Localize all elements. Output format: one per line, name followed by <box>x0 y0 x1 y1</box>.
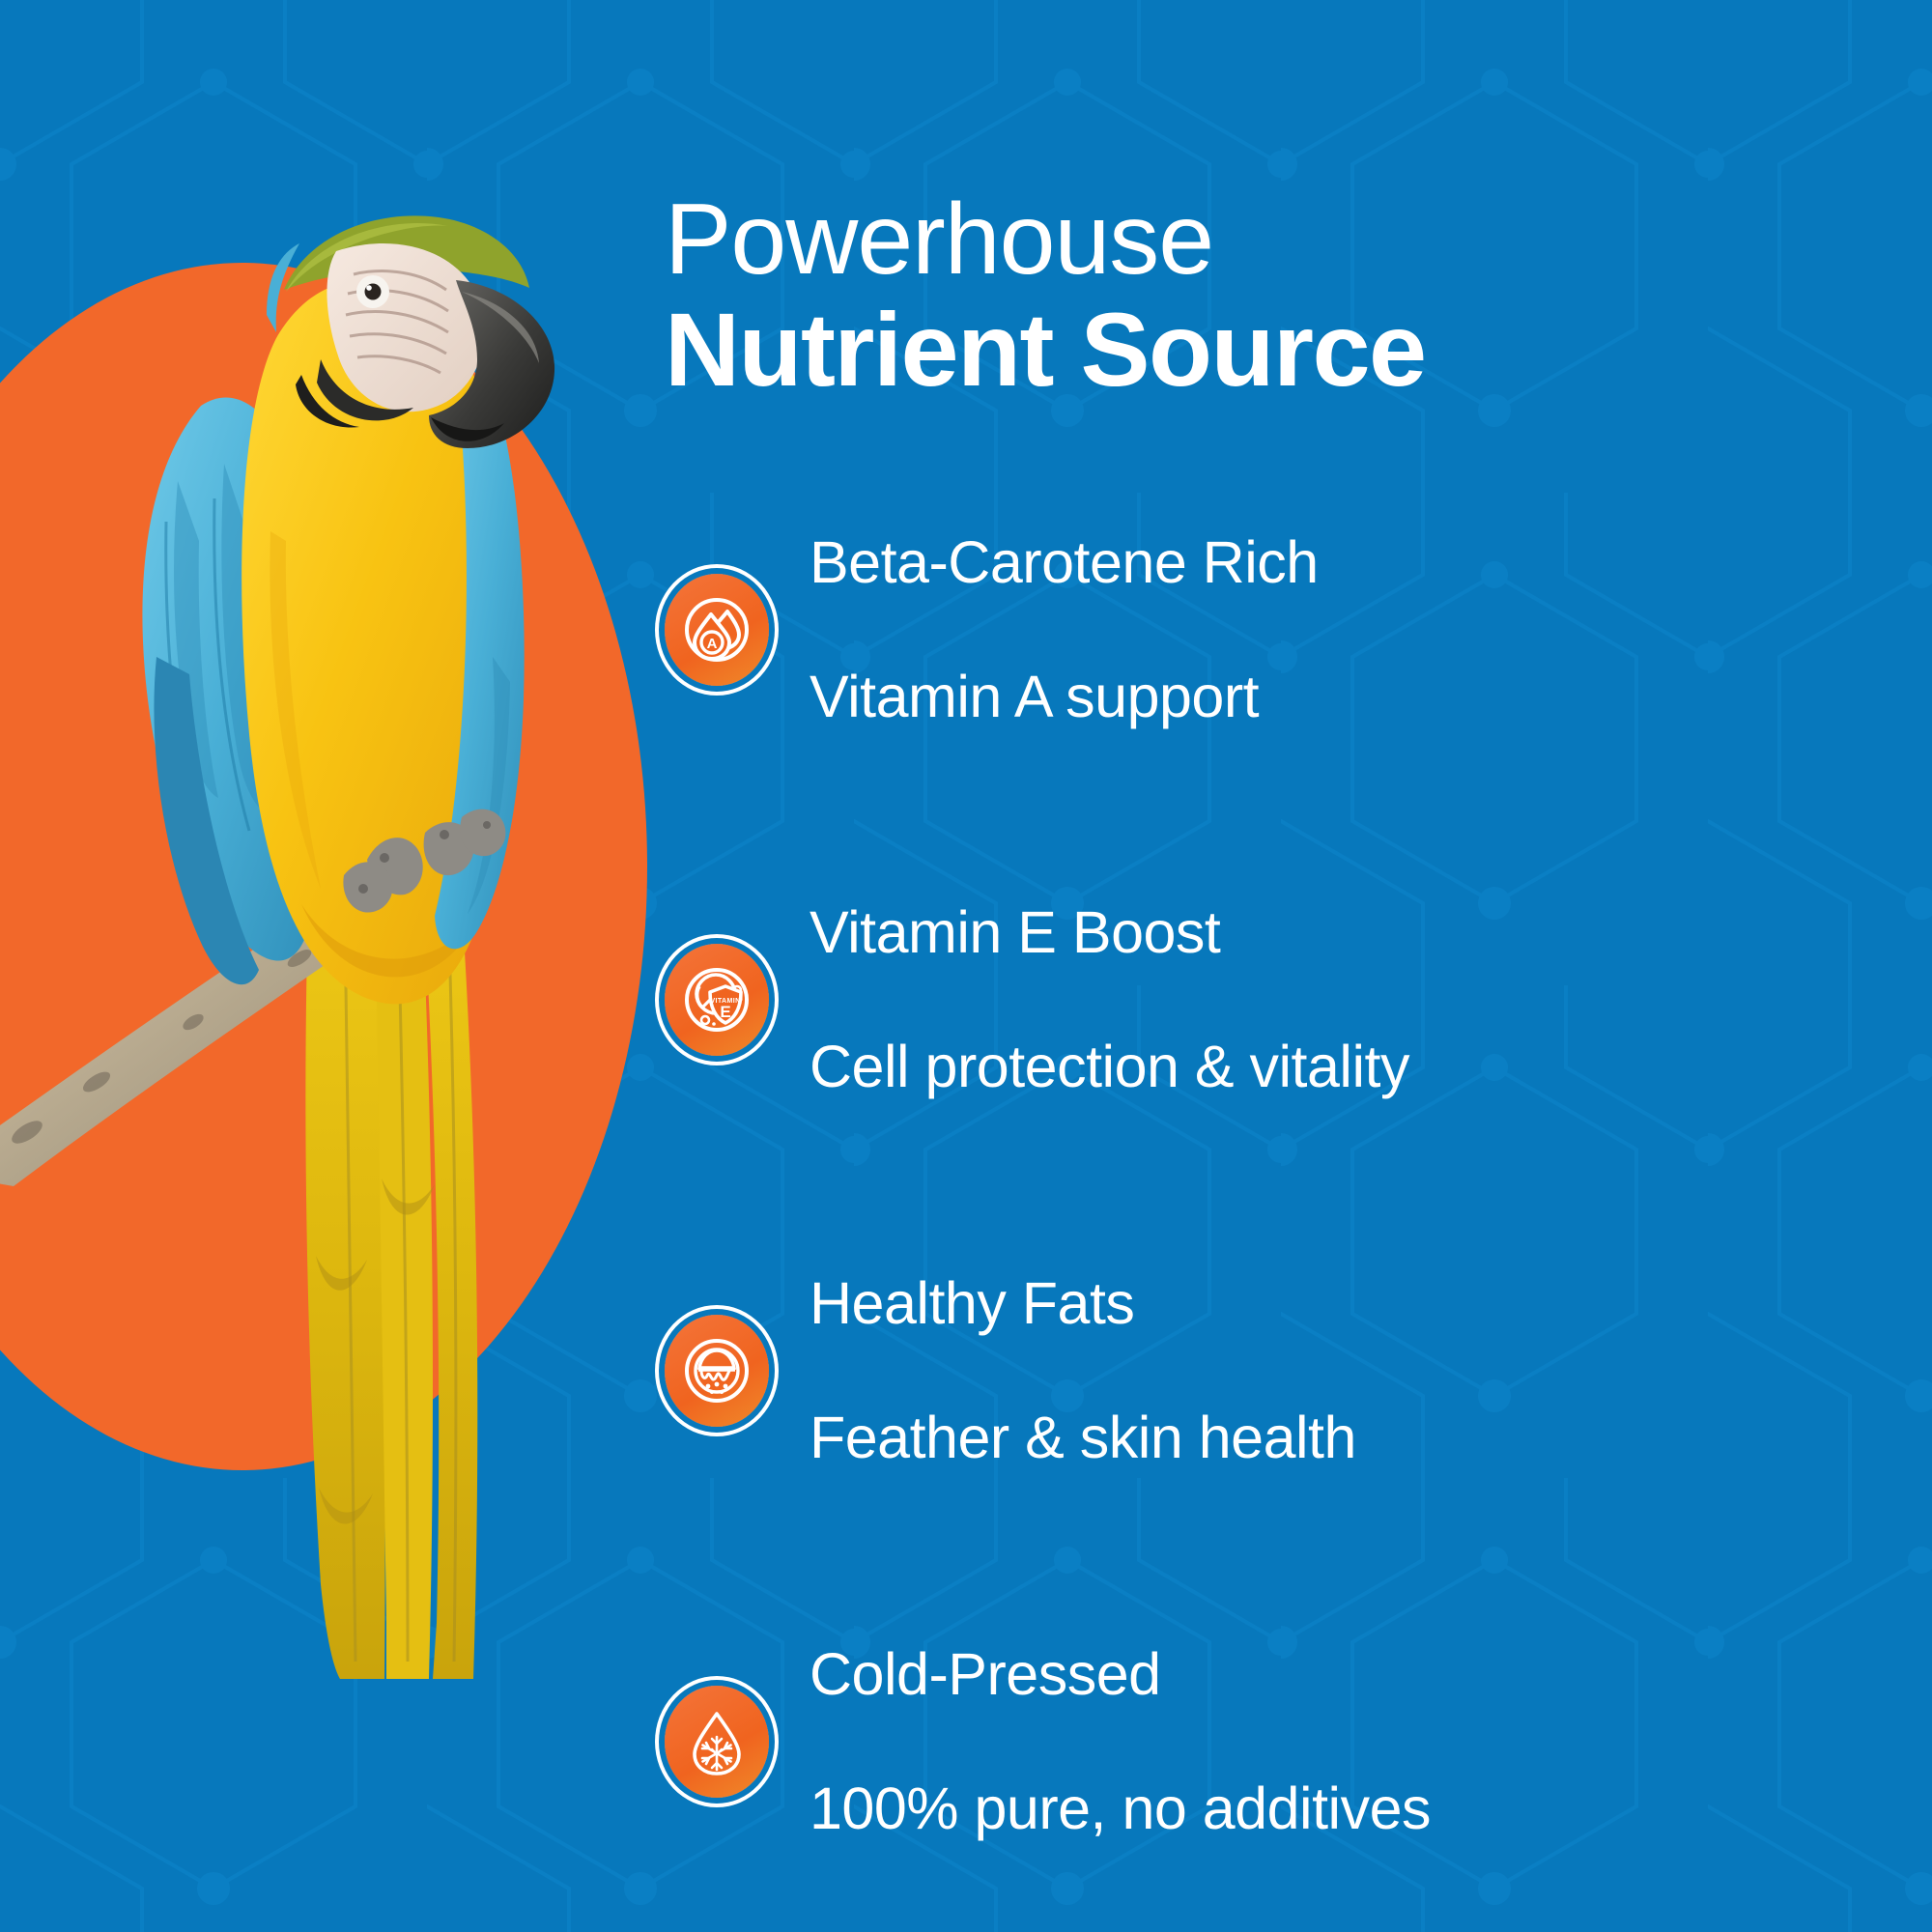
feature-text: Healthy Fats Feather & skin health <box>810 1203 1356 1539</box>
list-item: VITAMIN E Vitamin E Boost Cell protectio… <box>665 833 1932 1169</box>
headline-line-2: Nutrient Source <box>665 298 1920 402</box>
feature-text: Cold-Pressed 100% pure, no additives <box>810 1574 1431 1910</box>
vitamin-a-letter: A <box>707 636 718 652</box>
content-column: Powerhouse Nutrient Source A Beta-Carote… <box>665 0 1932 1932</box>
vitamin-e-letter: E <box>720 1003 730 1021</box>
feature-subtitle: 100% pure, no additives <box>810 1776 1431 1843</box>
snowflake-droplet-cold-press-icon <box>665 1686 769 1798</box>
list-item: Healthy Fats Feather & skin health <box>665 1203 1932 1539</box>
promotional-banner: Powerhouse Nutrient Source A Beta-Carote… <box>0 0 1932 1932</box>
feature-title: Vitamin E Boost <box>810 899 1409 967</box>
feature-list: A Beta-Carotene Rich Vitamin A support <box>665 462 1932 1932</box>
feature-subtitle: Vitamin A support <box>810 664 1319 731</box>
list-item: Cold-Pressed 100% pure, no additives <box>665 1574 1932 1910</box>
headline-line-1: Powerhouse <box>665 189 1920 290</box>
vitamin-e-shield-capsule-icon: VITAMIN E <box>665 944 769 1056</box>
list-item: A Beta-Carotene Rich Vitamin A support <box>665 462 1932 798</box>
feature-subtitle: Feather & skin health <box>810 1405 1356 1472</box>
oil-drip-fats-icon <box>665 1315 769 1427</box>
feature-title: Healthy Fats <box>810 1270 1356 1338</box>
blue-and-gold-macaw <box>77 116 676 1681</box>
feature-subtitle: Cell protection & vitality <box>810 1034 1409 1101</box>
feature-text: Beta-Carotene Rich Vitamin A support <box>810 462 1319 798</box>
feature-title: Cold-Pressed <box>810 1641 1431 1709</box>
feature-title: Beta-Carotene Rich <box>810 529 1319 597</box>
vitamin-a-droplet-icon: A <box>665 574 769 686</box>
feature-text: Vitamin E Boost Cell protection & vitali… <box>810 833 1409 1169</box>
page-title: Powerhouse Nutrient Source <box>665 189 1920 402</box>
